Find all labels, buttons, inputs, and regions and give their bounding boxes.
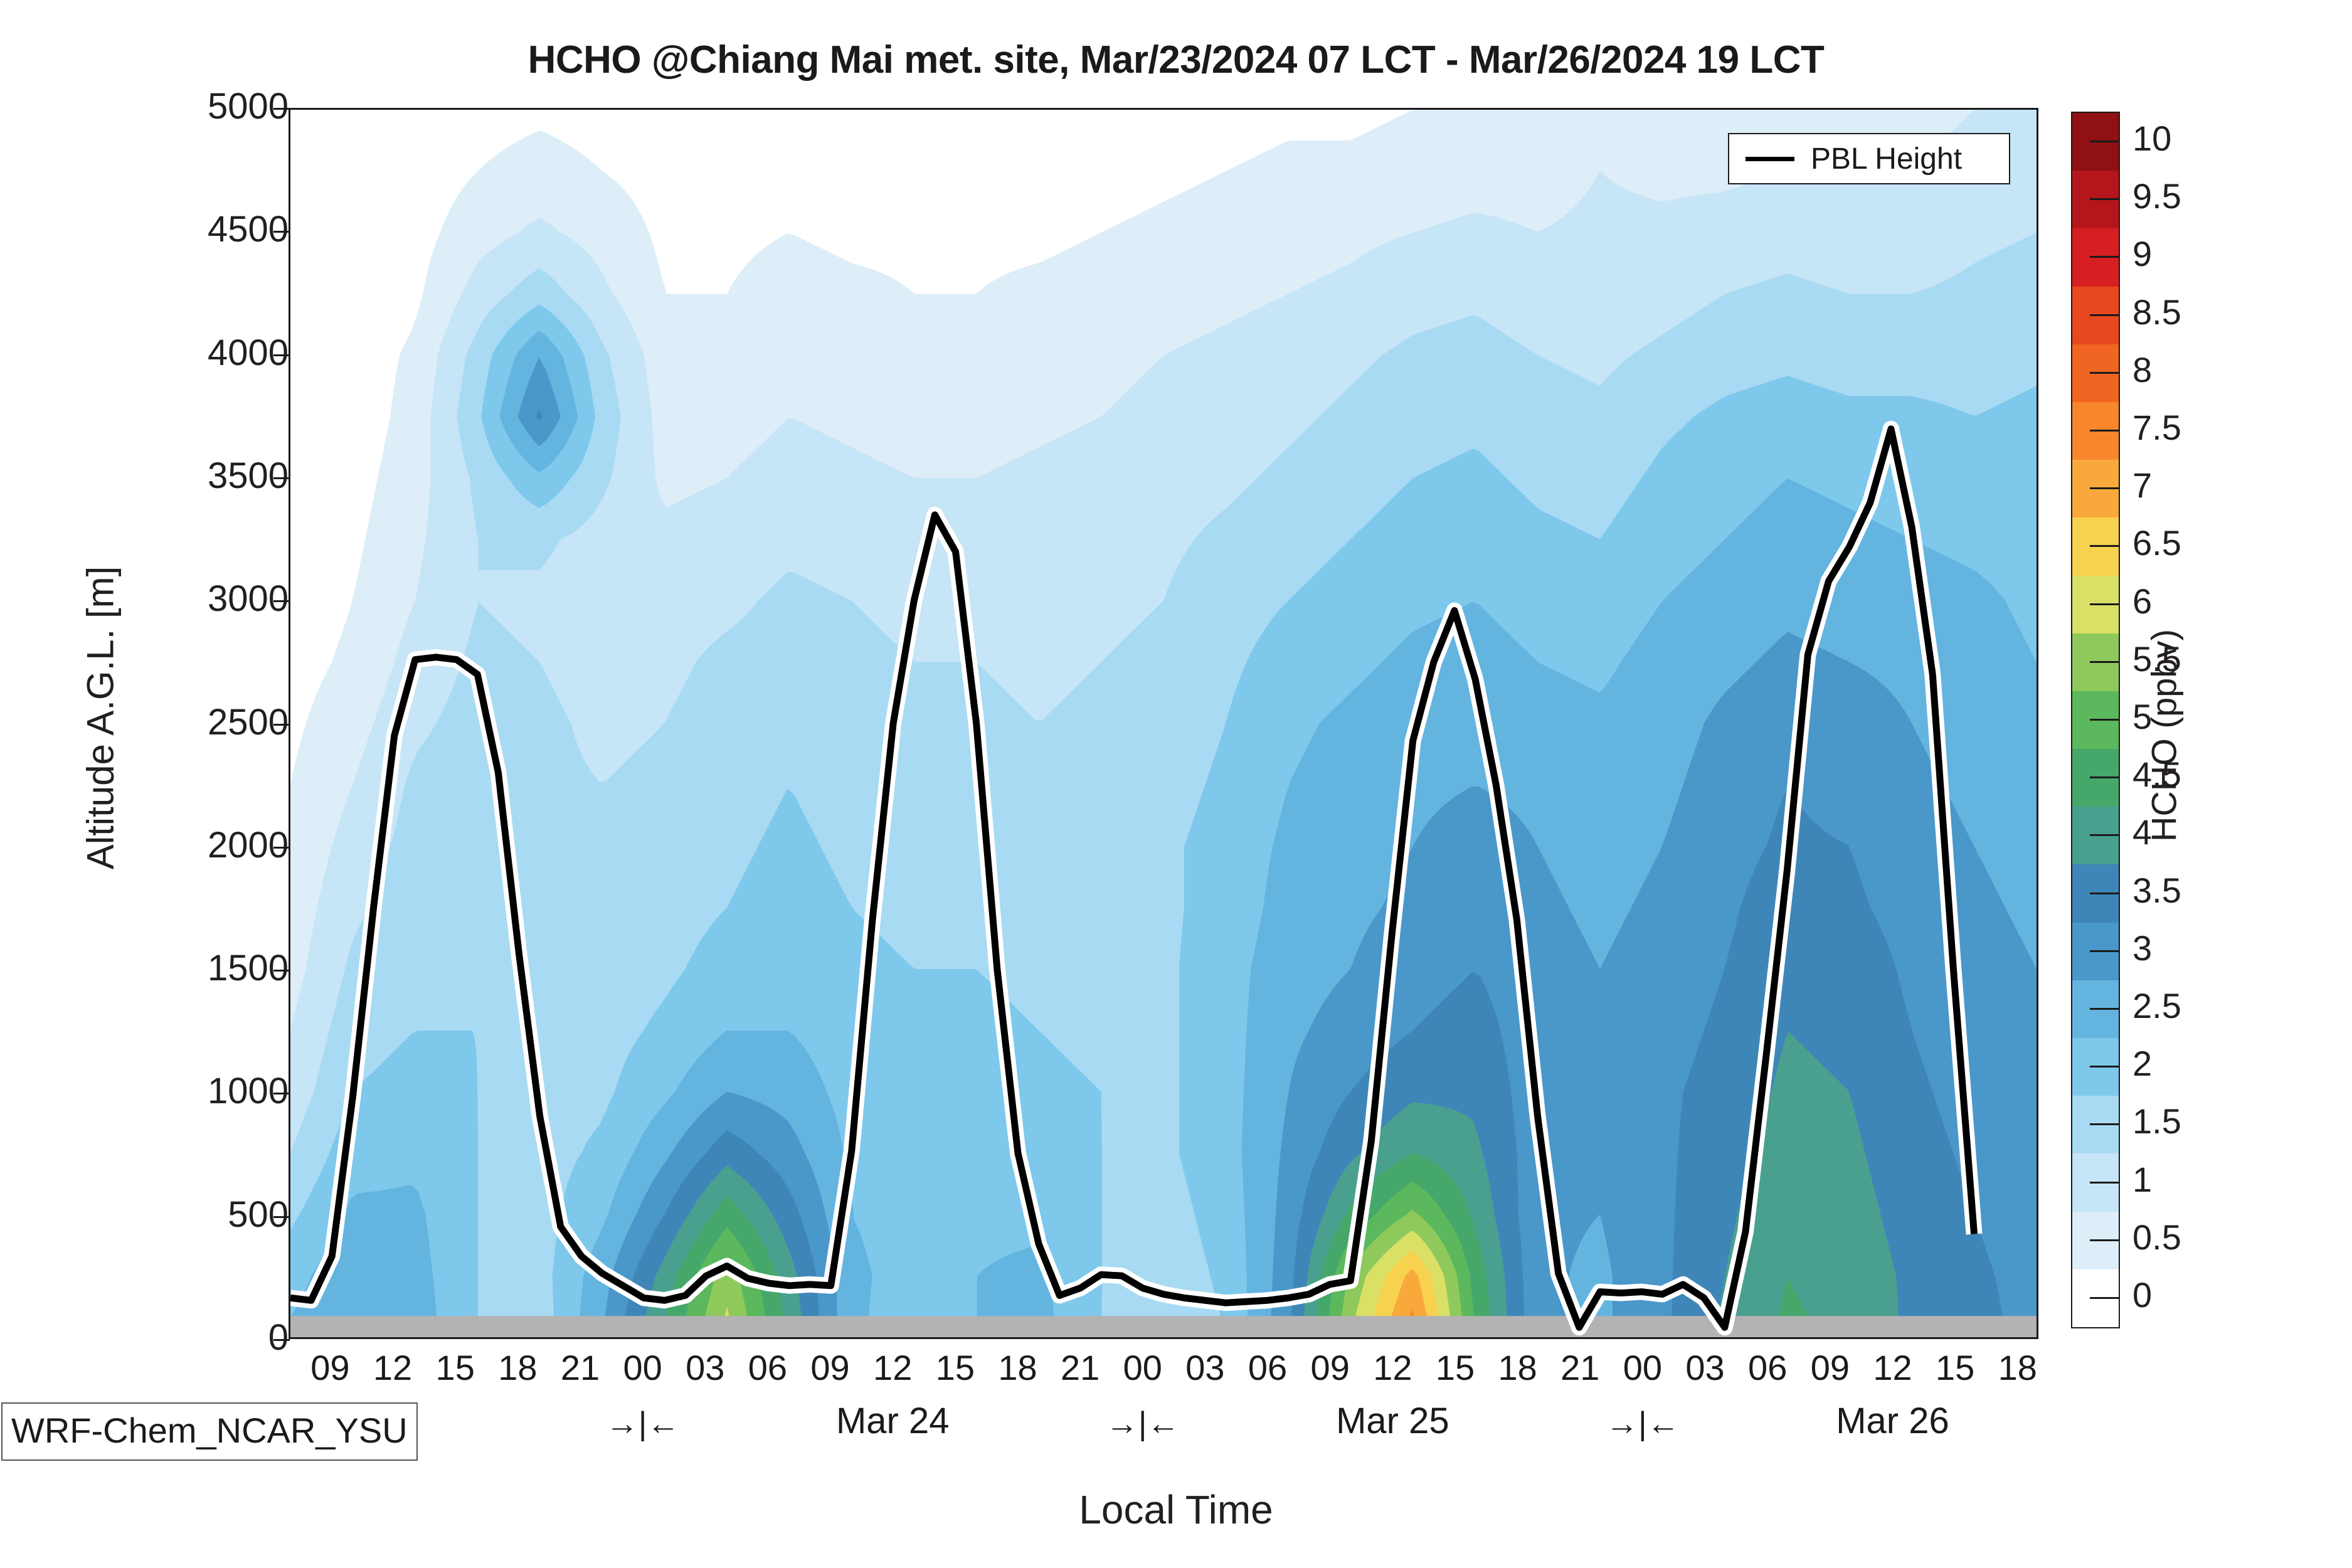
y-tick-mark <box>273 1093 290 1094</box>
colorbar-tick-mark <box>2090 603 2120 605</box>
pbl-height-line-swatch <box>1745 157 1794 161</box>
day-label: Mar 24 <box>761 1400 1024 1442</box>
colorbar-tick-mark <box>2090 1239 2120 1241</box>
y-tick-label: 500 <box>25 1194 289 1236</box>
day-label: Mar 26 <box>1761 1400 2025 1442</box>
y-tick-label: 0 <box>25 1316 289 1359</box>
colorbar-tick-mark <box>2090 719 2120 721</box>
plot-area <box>289 108 2038 1339</box>
figure-root: HCHO @Chiang Mai met. site, Mar/23/2024 … <box>0 0 2352 1568</box>
day-separator: →|← <box>1061 1405 1224 1443</box>
y-tick-mark <box>273 477 290 479</box>
colorbar-tick-label: 9 <box>2132 233 2270 274</box>
y-tick-label: 4500 <box>25 208 289 250</box>
model-tag: WRF-Chem_NCAR_YSU <box>1 1402 418 1461</box>
y-tick-mark <box>273 600 290 602</box>
day-separator: →|← <box>561 1405 724 1443</box>
x-axis-label: Local Time <box>0 1486 2352 1533</box>
y-tick-mark <box>273 354 290 356</box>
colorbar-tick-mark <box>2090 198 2120 200</box>
colorbar-tick-mark <box>2090 1123 2120 1125</box>
legend-label-pbl-height: PBL Height <box>1811 142 1962 176</box>
colorbar-tick-label: 10 <box>2132 118 2270 159</box>
colorbar-tick-label: 0.5 <box>2132 1217 2270 1258</box>
x-tick-label: 18 <box>1980 1347 2055 1388</box>
y-tick-label: 2000 <box>25 824 289 866</box>
terrain-band <box>290 1316 2037 1337</box>
colorbar-tick-mark <box>2090 1008 2120 1010</box>
colorbar-tick-mark <box>2090 776 2120 778</box>
colorbar-tick-mark <box>2090 1182 2120 1184</box>
y-tick-label: 4000 <box>25 332 289 374</box>
colorbar-tick-mark <box>2090 430 2120 432</box>
chart-title: HCHO @Chiang Mai met. site, Mar/23/2024 … <box>0 38 2352 82</box>
colorbar-title: HCHO (ppbv) <box>2144 328 2185 1143</box>
y-tick-label: 2500 <box>25 701 289 743</box>
y-tick-mark <box>273 108 290 110</box>
contour-plot <box>290 110 2037 1337</box>
colorbar-tick-label: 1 <box>2132 1159 2270 1200</box>
colorbar-tick-mark <box>2090 140 2120 142</box>
colorbar-tick-mark <box>2090 372 2120 374</box>
colorbar-tick-label: 8.5 <box>2132 292 2270 332</box>
y-tick-mark <box>273 1339 290 1341</box>
day-separator: →|← <box>1561 1405 1724 1443</box>
colorbar-tick-mark <box>2090 661 2120 663</box>
y-tick-label: 5000 <box>25 85 289 127</box>
colorbar-tick-label: 0 <box>2132 1274 2270 1315</box>
y-tick-mark <box>273 847 290 849</box>
y-tick-mark <box>273 1216 290 1218</box>
y-tick-mark <box>273 970 290 972</box>
y-tick-label: 1000 <box>25 1070 289 1112</box>
colorbar-tick-mark <box>2090 545 2120 547</box>
colorbar-tick-mark <box>2090 1297 2120 1299</box>
y-tick-mark <box>273 231 290 233</box>
y-tick-label: 1500 <box>25 947 289 989</box>
legend[interactable]: PBL Height <box>1728 133 2010 184</box>
colorbar-tick-mark <box>2090 893 2120 894</box>
colorbar-tick-mark <box>2090 834 2120 836</box>
colorbar-tick-mark <box>2090 950 2120 952</box>
colorbar-tick-mark <box>2090 1066 2120 1067</box>
y-tick-label: 3000 <box>25 578 289 620</box>
colorbar-tick-mark <box>2090 314 2120 316</box>
y-tick-label: 3500 <box>25 455 289 497</box>
y-tick-mark <box>273 724 290 726</box>
day-label: Mar 25 <box>1261 1400 1524 1442</box>
colorbar-tick-mark <box>2090 256 2120 258</box>
colorbar-tick-label: 9.5 <box>2132 176 2270 216</box>
colorbar-tick-mark <box>2090 487 2120 489</box>
